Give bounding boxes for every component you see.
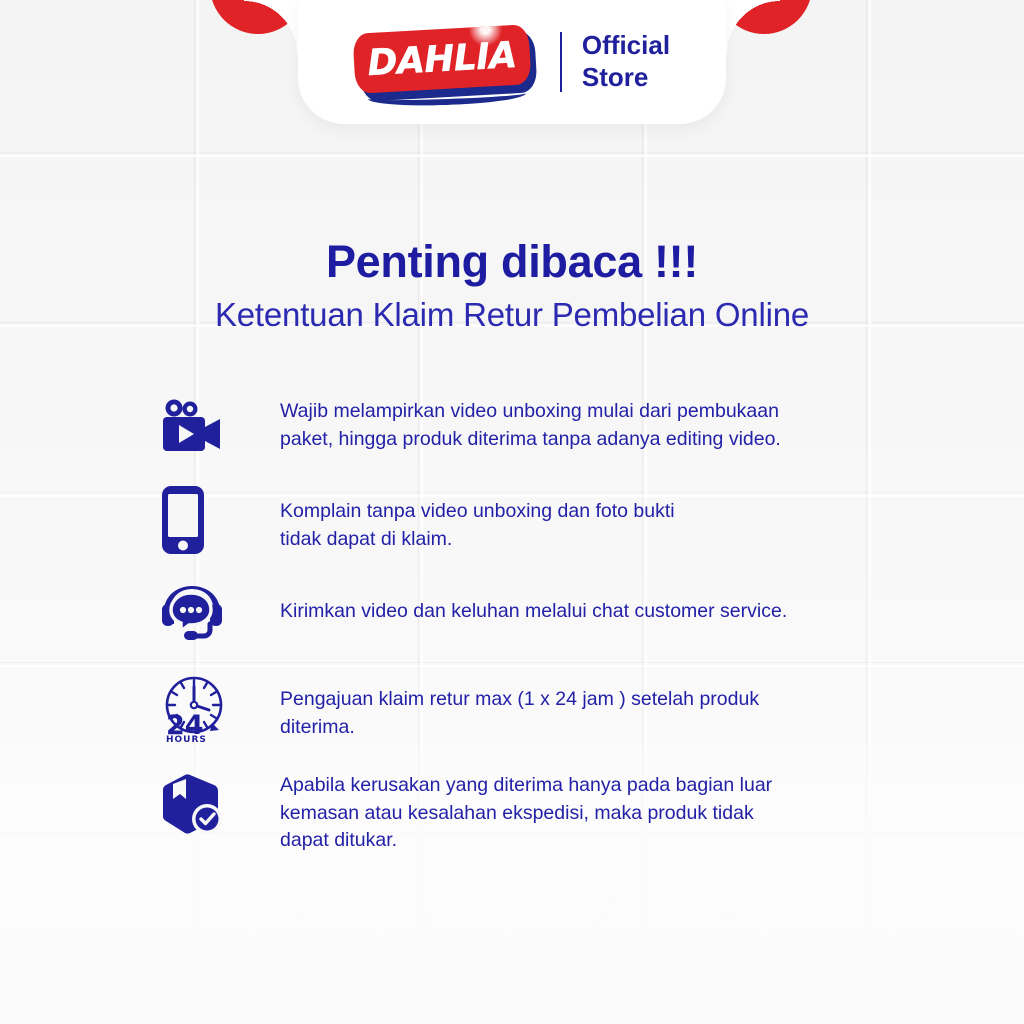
icon-cell [156, 392, 280, 462]
icon-cell: 24 HOURS [156, 668, 280, 748]
list-item-text: Wajib melampirkan video unboxing mulai d… [280, 392, 781, 453]
banner-notch-right [726, 0, 780, 54]
titles-block: Penting dibaca !!! Ketentuan Klaim Retur… [0, 236, 1024, 334]
list-item-text: Komplain tanpa video unboxing dan foto b… [280, 480, 675, 553]
icon-cell [156, 480, 280, 560]
list-item: Apabila kerusakan yang diterima hanya pa… [156, 766, 916, 855]
clock-hours-label: HOURS [166, 735, 207, 743]
list-item-text: Kirimkan video dan keluhan melalui chat … [280, 578, 787, 626]
icon-cell [156, 578, 280, 650]
dahlia-logo: DAHLIA [354, 21, 540, 103]
package-verified-icon [160, 773, 224, 835]
list-item-text: Pengajuan klaim retur max (1 x 24 jam ) … [280, 668, 759, 741]
header-divider [560, 32, 562, 92]
header-banner-area: DAHLIA Official Store [0, 0, 1024, 132]
video-camera-icon [160, 399, 222, 455]
24-hours-clock-icon: 24 HOURS [160, 673, 228, 743]
official-store-label: Official Store [582, 30, 670, 93]
page-subtitle: Ketentuan Klaim Retur Pembelian Online [0, 296, 1024, 334]
customer-service-headset-icon [160, 584, 224, 644]
official-store-line2: Store [582, 62, 670, 94]
logo-wordmark: DAHLIA [352, 24, 531, 94]
official-store-line1: Official [582, 30, 670, 62]
list-item: 24 HOURS Pengajuan klaim retur max (1 x … [156, 668, 916, 748]
promo-poster: DAHLIA Official Store Penting dibaca !!!… [0, 0, 1024, 1024]
smartphone-icon [160, 484, 206, 556]
page-title: Penting dibaca !!! [0, 236, 1024, 288]
banner-notch-left [244, 0, 298, 54]
terms-list: Wajib melampirkan video unboxing mulai d… [156, 392, 916, 873]
brand-header: DAHLIA Official Store [298, 0, 726, 124]
icon-cell [156, 766, 280, 842]
list-item: Komplain tanpa video unboxing dan foto b… [156, 480, 916, 560]
list-item-text: Apabila kerusakan yang diterima hanya pa… [280, 766, 772, 855]
list-item: Kirimkan video dan keluhan melalui chat … [156, 578, 916, 650]
list-item: Wajib melampirkan video unboxing mulai d… [156, 392, 916, 462]
